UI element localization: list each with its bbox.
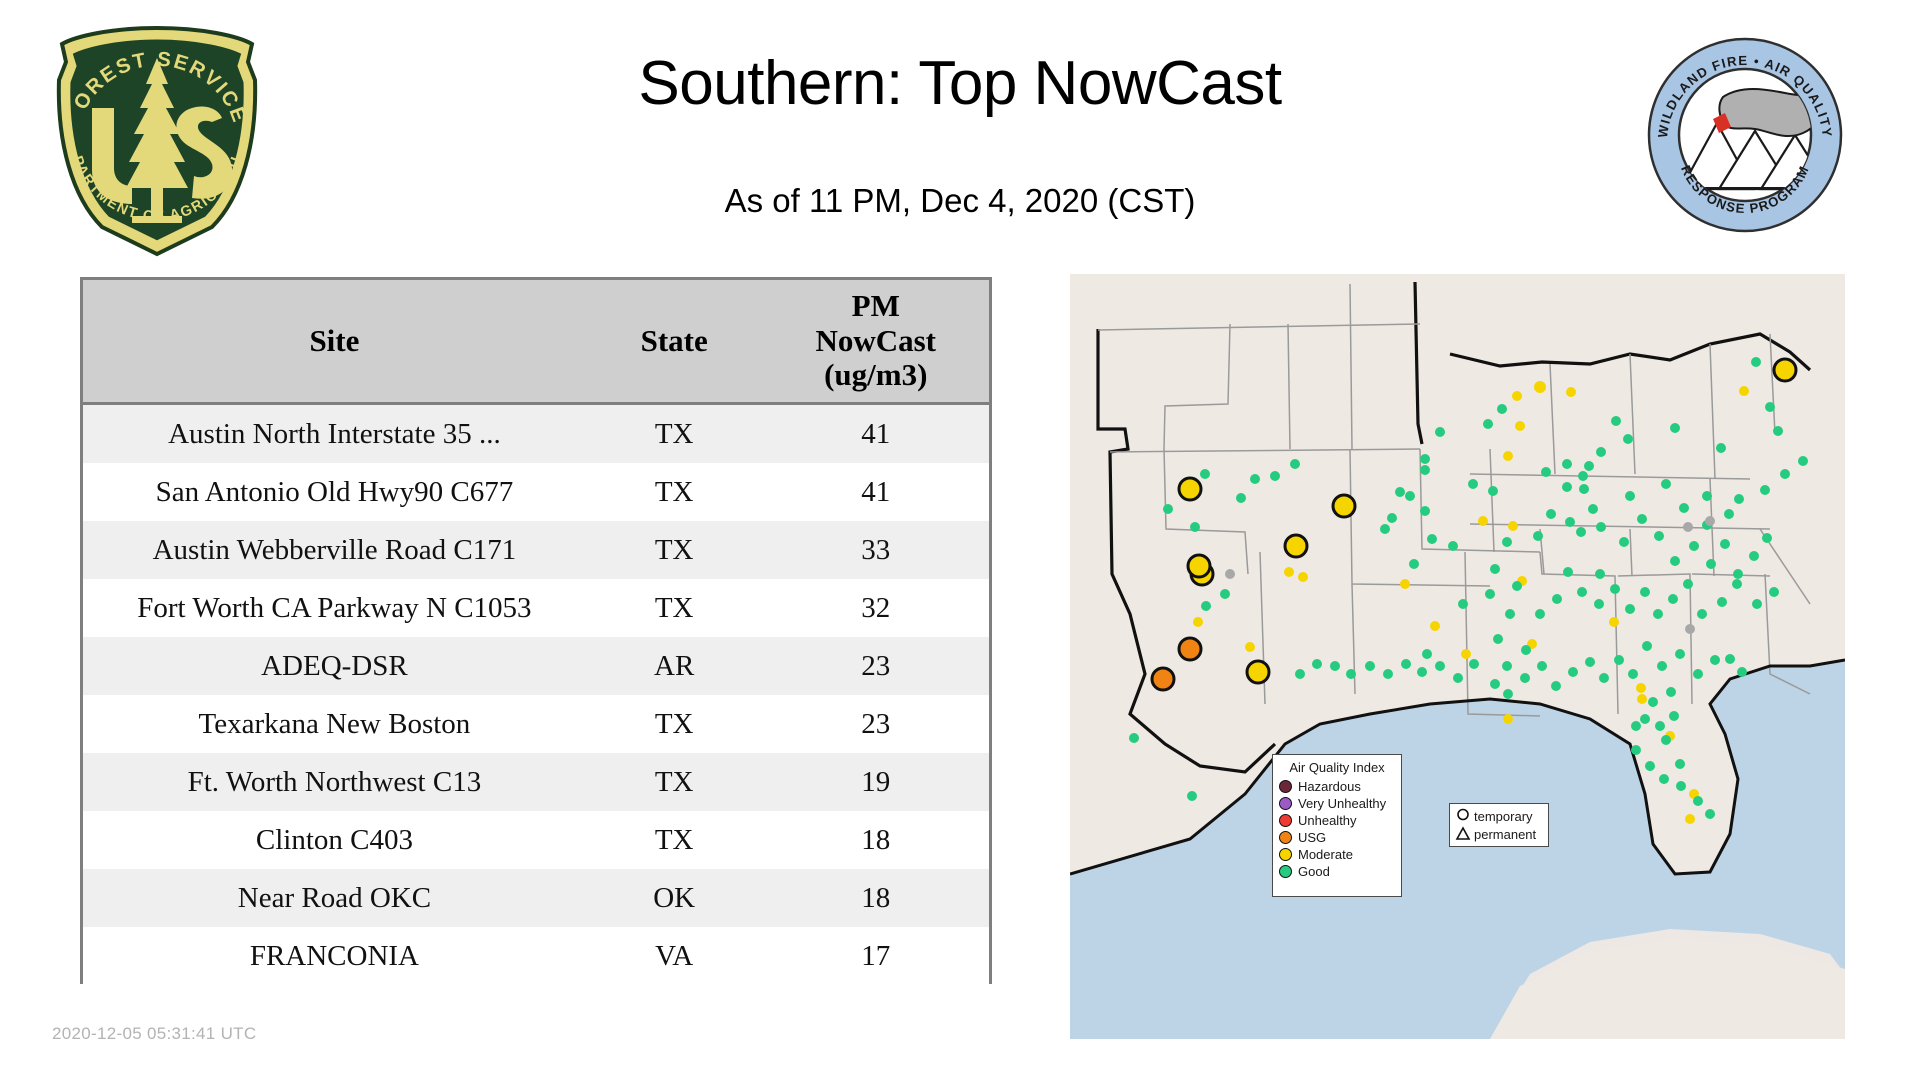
map-monitor-marker[interactable] bbox=[1610, 584, 1620, 594]
map-monitor-marker[interactable] bbox=[1179, 638, 1201, 660]
map-monitor-marker[interactable] bbox=[1596, 447, 1606, 457]
generated-timestamp: 2020-12-05 05:31:41 UTC bbox=[52, 1024, 256, 1044]
map-monitor-marker[interactable] bbox=[1666, 687, 1676, 697]
legend-row-unhealthy: Unhealthy bbox=[1279, 812, 1395, 829]
map-monitor-marker[interactable] bbox=[1290, 459, 1300, 469]
map-monitor-marker[interactable] bbox=[1285, 535, 1307, 557]
table-row[interactable]: ADEQ-DSRAR23 bbox=[83, 637, 989, 695]
map-monitor-marker[interactable] bbox=[1333, 495, 1355, 517]
legend-row-permanent: permanent bbox=[1455, 825, 1543, 843]
map-monitor-marker[interactable] bbox=[1469, 659, 1479, 669]
map-monitor-marker[interactable] bbox=[1201, 601, 1211, 611]
map-monitor-marker[interactable] bbox=[1190, 522, 1200, 532]
map-monitor-marker[interactable] bbox=[1503, 689, 1513, 699]
map-monitor-marker[interactable] bbox=[1737, 667, 1747, 677]
map-monitor-marker[interactable] bbox=[1798, 456, 1808, 466]
map-monitor-marker[interactable] bbox=[1488, 486, 1498, 496]
legend-label-temporary: temporary bbox=[1474, 809, 1533, 824]
map-monitor-marker[interactable] bbox=[1533, 531, 1543, 541]
map-monitor-marker[interactable] bbox=[1365, 661, 1375, 671]
map-monitor-marker[interactable] bbox=[1458, 599, 1468, 609]
map-monitor-marker[interactable] bbox=[1247, 661, 1269, 683]
table-row[interactable]: FRANCONIAVA17 bbox=[83, 927, 989, 985]
map-monitor-marker[interactable] bbox=[1387, 513, 1397, 523]
map-monitor-marker[interactable] bbox=[1200, 469, 1210, 479]
cell-site-name: ADEQ-DSR bbox=[83, 637, 586, 695]
map-monitor-marker[interactable] bbox=[1521, 645, 1531, 655]
map-monitor-marker[interactable] bbox=[1401, 659, 1411, 669]
map-monitor-marker[interactable] bbox=[1676, 781, 1686, 791]
map-monitor-marker[interactable] bbox=[1675, 759, 1685, 769]
legend-swatch-icon bbox=[1279, 831, 1292, 844]
map-monitor-marker[interactable] bbox=[1563, 567, 1573, 577]
map-monitor-marker[interactable] bbox=[1588, 504, 1598, 514]
map-monitor-marker[interactable] bbox=[1640, 587, 1650, 597]
map-monitor-marker[interactable] bbox=[1625, 604, 1635, 614]
map-monitor-marker[interactable] bbox=[1534, 381, 1546, 393]
map-monitor-marker[interactable] bbox=[1537, 661, 1547, 671]
map-monitor-marker[interactable] bbox=[1461, 649, 1471, 659]
cell-site-name: FRANCONIA bbox=[83, 927, 586, 985]
cell-site-state: VA bbox=[586, 927, 763, 985]
map-monitor-marker[interactable] bbox=[1725, 654, 1735, 664]
legend-row-hazardous: Hazardous bbox=[1279, 778, 1395, 795]
map-monitor-marker[interactable] bbox=[1551, 681, 1561, 691]
cell-site-pm-nowcast: 33 bbox=[762, 521, 989, 579]
map-monitor-marker[interactable] bbox=[1546, 509, 1556, 519]
map-monitor-marker[interactable] bbox=[1420, 465, 1430, 475]
map-monitor-marker[interactable] bbox=[1503, 714, 1513, 724]
air-quality-map[interactable] bbox=[1070, 274, 1845, 1039]
map-monitor-marker[interactable] bbox=[1670, 423, 1680, 433]
page-title: Southern: Top NowCast bbox=[300, 48, 1620, 119]
column-header-site: Site bbox=[83, 280, 586, 404]
page-subtitle: As of 11 PM, Dec 4, 2020 (CST) bbox=[300, 182, 1620, 220]
map-monitor-marker[interactable] bbox=[1642, 641, 1652, 651]
map-monitor-marker[interactable] bbox=[1417, 667, 1427, 677]
cell-site-pm-nowcast: 41 bbox=[762, 404, 989, 464]
map-monitor-marker[interactable] bbox=[1541, 467, 1551, 477]
map-monitor-marker[interactable] bbox=[1512, 581, 1522, 591]
cell-site-pm-nowcast: 41 bbox=[762, 463, 989, 521]
site-type-legend: temporary permanent bbox=[1449, 803, 1549, 847]
map-monitor-marker[interactable] bbox=[1611, 416, 1621, 426]
map-monitor-marker[interactable] bbox=[1710, 655, 1720, 665]
map-monitor-marker[interactable] bbox=[1435, 427, 1445, 437]
map-monitor-marker[interactable] bbox=[1295, 669, 1305, 679]
map-monitor-marker[interactable] bbox=[1520, 673, 1530, 683]
map-monitor-marker[interactable] bbox=[1628, 669, 1638, 679]
map-monitor-marker[interactable] bbox=[1579, 484, 1589, 494]
cell-site-pm-nowcast: 32 bbox=[762, 579, 989, 637]
map-monitor-marker[interactable] bbox=[1409, 559, 1419, 569]
map-monitor-marker[interactable] bbox=[1669, 711, 1679, 721]
map-monitor-marker[interactable] bbox=[1485, 589, 1495, 599]
map-monitor-marker[interactable] bbox=[1702, 491, 1712, 501]
legend-label: USG bbox=[1298, 830, 1326, 845]
map-monitor-marker[interactable] bbox=[1568, 667, 1578, 677]
map-monitor-marker[interactable] bbox=[1448, 541, 1458, 551]
map-monitor-marker[interactable] bbox=[1705, 516, 1715, 526]
map-monitor-marker[interactable] bbox=[1505, 609, 1515, 619]
legend-label-permanent: permanent bbox=[1474, 827, 1536, 842]
cell-site-state: TX bbox=[586, 521, 763, 579]
cell-site-name: San Antonio Old Hwy90 C677 bbox=[83, 463, 586, 521]
map-monitor-marker[interactable] bbox=[1562, 459, 1572, 469]
map-monitor-marker[interactable] bbox=[1420, 454, 1430, 464]
map-monitor-marker[interactable] bbox=[1661, 735, 1671, 745]
table-row[interactable]: Austin Webberville Road C171TX33 bbox=[83, 521, 989, 579]
map-monitor-marker[interactable] bbox=[1661, 479, 1671, 489]
map-monitor-marker[interactable] bbox=[1435, 661, 1445, 671]
map-monitor-marker[interactable] bbox=[1683, 522, 1693, 532]
map-monitor-marker[interactable] bbox=[1659, 774, 1669, 784]
cell-site-state: AR bbox=[586, 637, 763, 695]
map-monitor-marker[interactable] bbox=[1483, 419, 1493, 429]
map-monitor-marker[interactable] bbox=[1724, 509, 1734, 519]
cell-site-name: Texarkana New Boston bbox=[83, 695, 586, 753]
cell-site-name: Austin North Interstate 35 ... bbox=[83, 404, 586, 464]
table-row[interactable]: Texarkana New BostonTX23 bbox=[83, 695, 989, 753]
map-monitor-marker[interactable] bbox=[1625, 491, 1635, 501]
map-monitor-marker[interactable] bbox=[1468, 479, 1478, 489]
map-monitor-marker[interactable] bbox=[1614, 655, 1624, 665]
map-monitor-marker[interactable] bbox=[1762, 533, 1772, 543]
aqi-legend: Air Quality Index HazardousVery Unhealth… bbox=[1272, 754, 1402, 897]
usfs-forest-service-logo: FOREST SERVICE DEPARTMENT OF AGRICULTURE bbox=[52, 22, 262, 257]
map-monitor-marker[interactable] bbox=[1245, 642, 1255, 652]
map-monitor-marker[interactable] bbox=[1562, 482, 1572, 492]
legend-label: Moderate bbox=[1298, 847, 1353, 862]
legend-label: Very Unhealthy bbox=[1298, 796, 1386, 811]
map-monitor-marker[interactable] bbox=[1508, 521, 1518, 531]
map-monitor-marker[interactable] bbox=[1346, 669, 1356, 679]
map-monitor-marker[interactable] bbox=[1490, 564, 1500, 574]
map-monitor-marker[interactable] bbox=[1749, 551, 1759, 561]
map-monitor-marker[interactable] bbox=[1648, 697, 1658, 707]
map-monitor-marker[interactable] bbox=[1400, 579, 1410, 589]
cell-site-name: Clinton C403 bbox=[83, 811, 586, 869]
map-monitor-marker[interactable] bbox=[1552, 594, 1562, 604]
map-monitor-marker[interactable] bbox=[1685, 814, 1695, 824]
table-row[interactable]: San Antonio Old Hwy90 C677TX41 bbox=[83, 463, 989, 521]
map-monitor-marker[interactable] bbox=[1637, 514, 1647, 524]
map-monitor-marker[interactable] bbox=[1706, 559, 1716, 569]
legend-swatch-icon bbox=[1279, 814, 1292, 827]
triangle-outline-icon bbox=[1455, 826, 1471, 842]
map-monitor-marker[interactable] bbox=[1395, 487, 1405, 497]
circle-outline-icon bbox=[1455, 808, 1471, 824]
map-monitor-marker[interactable] bbox=[1654, 531, 1664, 541]
cell-site-name: Fort Worth CA Parkway N C1053 bbox=[83, 579, 586, 637]
map-monitor-marker[interactable] bbox=[1675, 649, 1685, 659]
legend-row-usg: USG bbox=[1279, 829, 1395, 846]
map-monitor-marker[interactable] bbox=[1631, 745, 1641, 755]
map-monitor-marker[interactable] bbox=[1405, 491, 1415, 501]
map-monitor-marker[interactable] bbox=[1765, 402, 1775, 412]
cell-site-pm-nowcast: 19 bbox=[762, 753, 989, 811]
map-monitor-marker[interactable] bbox=[1599, 673, 1609, 683]
map-monitor-marker[interactable] bbox=[1430, 621, 1440, 631]
map-monitor-marker[interactable] bbox=[1780, 469, 1790, 479]
map-monitor-marker[interactable] bbox=[1383, 669, 1393, 679]
map-monitor-marker[interactable] bbox=[1640, 714, 1650, 724]
map-monitor-marker[interactable] bbox=[1502, 661, 1512, 671]
map-monitor-marker[interactable] bbox=[1637, 694, 1647, 704]
map-monitor-marker[interactable] bbox=[1716, 443, 1726, 453]
map-monitor-marker[interactable] bbox=[1330, 661, 1340, 671]
cell-site-state: OK bbox=[586, 869, 763, 927]
map-monitor-marker[interactable] bbox=[1250, 474, 1260, 484]
top-nowcast-table: Site State PM NowCast (ug/m3) Austin Nor… bbox=[80, 277, 992, 984]
map-monitor-marker[interactable] bbox=[1422, 649, 1432, 659]
map-monitor-marker[interactable] bbox=[1693, 669, 1703, 679]
map-monitor-marker[interactable] bbox=[1594, 599, 1604, 609]
legend-swatch-icon bbox=[1279, 865, 1292, 878]
map-monitor-marker[interactable] bbox=[1705, 809, 1715, 819]
table-row[interactable]: Fort Worth CA Parkway N C1053TX32 bbox=[83, 579, 989, 637]
map-monitor-marker[interactable] bbox=[1577, 587, 1587, 597]
cell-site-state: TX bbox=[586, 463, 763, 521]
map-monitor-marker[interactable] bbox=[1653, 609, 1663, 619]
map-monitor-marker[interactable] bbox=[1478, 516, 1488, 526]
map-monitor-marker[interactable] bbox=[1645, 761, 1655, 771]
map-monitor-marker[interactable] bbox=[1636, 683, 1646, 693]
map-monitor-marker[interactable] bbox=[1163, 504, 1173, 514]
map-monitor-marker[interactable] bbox=[1739, 386, 1749, 396]
map-monitor-marker[interactable] bbox=[1152, 668, 1174, 690]
map-monitor-marker[interactable] bbox=[1720, 539, 1730, 549]
map-monitor-marker[interactable] bbox=[1760, 485, 1770, 495]
column-header-pm-nowcast: PM NowCast (ug/m3) bbox=[762, 280, 989, 404]
map-monitor-marker[interactable] bbox=[1312, 659, 1322, 669]
map-monitor-marker[interactable] bbox=[1565, 517, 1575, 527]
map-monitor-marker[interactable] bbox=[1596, 522, 1606, 532]
map-monitor-marker[interactable] bbox=[1427, 534, 1437, 544]
map-monitor-marker[interactable] bbox=[1380, 524, 1390, 534]
legend-row-temporary: temporary bbox=[1455, 807, 1543, 825]
wfaqrp-logo: WILDLAND FIRE • AIR QUALITY RESPONSE PRO… bbox=[1645, 35, 1845, 235]
cell-site-pm-nowcast: 17 bbox=[762, 927, 989, 985]
cell-site-name: Austin Webberville Road C171 bbox=[83, 521, 586, 579]
table-row[interactable]: Near Road OKCOK18 bbox=[83, 869, 989, 927]
map-monitor-marker[interactable] bbox=[1493, 634, 1503, 644]
map-monitor-marker[interactable] bbox=[1655, 721, 1665, 731]
column-header-state: State bbox=[586, 280, 763, 404]
map-monitor-marker[interactable] bbox=[1187, 791, 1197, 801]
legend-row-very-unhealthy: Very Unhealthy bbox=[1279, 795, 1395, 812]
map-monitor-marker[interactable] bbox=[1535, 609, 1545, 619]
map-monitor-marker[interactable] bbox=[1497, 404, 1507, 414]
map-monitor-marker[interactable] bbox=[1515, 421, 1525, 431]
legend-swatch-icon bbox=[1279, 848, 1292, 861]
table-header-row: Site State PM NowCast (ug/m3) bbox=[83, 280, 989, 404]
map-monitor-marker[interactable] bbox=[1717, 597, 1727, 607]
cell-site-state: TX bbox=[586, 811, 763, 869]
cell-site-state: TX bbox=[586, 579, 763, 637]
map-monitor-marker[interactable] bbox=[1220, 589, 1230, 599]
map-monitor-marker[interactable] bbox=[1752, 599, 1762, 609]
table-row[interactable]: Clinton C403TX18 bbox=[83, 811, 989, 869]
map-monitor-marker[interactable] bbox=[1298, 572, 1308, 582]
map-monitor-marker[interactable] bbox=[1179, 478, 1201, 500]
map-monitor-marker[interactable] bbox=[1685, 624, 1695, 634]
map-monitor-marker[interactable] bbox=[1585, 657, 1595, 667]
map-monitor-marker[interactable] bbox=[1503, 451, 1513, 461]
map-monitor-marker[interactable] bbox=[1188, 555, 1210, 577]
map-monitor-marker[interactable] bbox=[1773, 426, 1783, 436]
map-monitor-marker[interactable] bbox=[1733, 569, 1743, 579]
map-monitor-marker[interactable] bbox=[1734, 494, 1744, 504]
map-monitor-marker[interactable] bbox=[1689, 541, 1699, 551]
legend-label: Hazardous bbox=[1298, 779, 1361, 794]
cell-site-state: TX bbox=[586, 753, 763, 811]
map-monitor-marker[interactable] bbox=[1270, 471, 1280, 481]
map-monitor-marker[interactable] bbox=[1619, 537, 1629, 547]
legend-label: Good bbox=[1298, 864, 1330, 879]
map-monitor-marker[interactable] bbox=[1502, 537, 1512, 547]
aqi-legend-title: Air Quality Index bbox=[1279, 760, 1395, 775]
map-monitor-marker[interactable] bbox=[1769, 587, 1779, 597]
cell-site-state: TX bbox=[586, 404, 763, 464]
cell-site-pm-nowcast: 18 bbox=[762, 811, 989, 869]
cell-site-pm-nowcast: 23 bbox=[762, 695, 989, 753]
map-monitor-marker[interactable] bbox=[1631, 721, 1641, 731]
map-monitor-marker[interactable] bbox=[1751, 357, 1761, 367]
map-monitor-marker[interactable] bbox=[1566, 387, 1576, 397]
legend-row-moderate: Moderate bbox=[1279, 846, 1395, 863]
legend-swatch-icon bbox=[1279, 797, 1292, 810]
cell-site-state: TX bbox=[586, 695, 763, 753]
map-monitor-marker[interactable] bbox=[1732, 579, 1742, 589]
map-monitor-marker[interactable] bbox=[1420, 506, 1430, 516]
legend-label: Unhealthy bbox=[1298, 813, 1357, 828]
map-monitor-marker[interactable] bbox=[1193, 617, 1203, 627]
map-monitor-marker[interactable] bbox=[1236, 493, 1246, 503]
map-monitor-marker[interactable] bbox=[1225, 569, 1235, 579]
legend-swatch-icon bbox=[1279, 780, 1292, 793]
map-monitor-marker[interactable] bbox=[1697, 609, 1707, 619]
cell-site-name: Ft. Worth Northwest C13 bbox=[83, 753, 586, 811]
map-monitor-marker[interactable] bbox=[1284, 567, 1294, 577]
map-monitor-marker[interactable] bbox=[1693, 796, 1703, 806]
map-monitor-marker[interactable] bbox=[1774, 359, 1796, 381]
map-monitor-marker[interactable] bbox=[1578, 471, 1588, 481]
table-row[interactable]: Ft. Worth Northwest C13TX19 bbox=[83, 753, 989, 811]
cell-site-pm-nowcast: 18 bbox=[762, 869, 989, 927]
table-row[interactable]: Austin North Interstate 35 ...TX41 bbox=[83, 404, 989, 464]
map-monitor-marker[interactable] bbox=[1490, 679, 1500, 689]
map-monitor-marker[interactable] bbox=[1595, 569, 1605, 579]
map-monitor-marker[interactable] bbox=[1584, 461, 1594, 471]
map-monitor-marker[interactable] bbox=[1623, 434, 1633, 444]
map-monitor-marker[interactable] bbox=[1609, 617, 1619, 627]
map-monitor-marker[interactable] bbox=[1512, 391, 1522, 401]
map-monitor-marker[interactable] bbox=[1670, 556, 1680, 566]
cell-site-name: Near Road OKC bbox=[83, 869, 586, 927]
map-monitor-marker[interactable] bbox=[1679, 503, 1689, 513]
cell-site-pm-nowcast: 23 bbox=[762, 637, 989, 695]
map-monitor-marker[interactable] bbox=[1668, 594, 1678, 604]
map-monitor-marker[interactable] bbox=[1576, 527, 1586, 537]
map-monitor-marker[interactable] bbox=[1453, 673, 1463, 683]
map-monitor-marker[interactable] bbox=[1683, 579, 1693, 589]
map-monitor-marker[interactable] bbox=[1129, 733, 1139, 743]
map-monitor-marker[interactable] bbox=[1657, 661, 1667, 671]
legend-row-good: Good bbox=[1279, 863, 1395, 880]
